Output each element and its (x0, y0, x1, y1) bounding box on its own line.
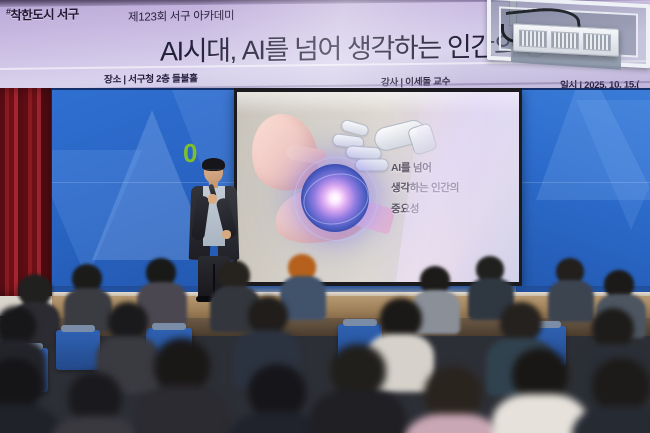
backdrop-seam (516, 182, 650, 183)
person-head (500, 302, 542, 342)
projector-vent-icon (519, 30, 547, 48)
person-head (248, 364, 306, 418)
backdrop-triangle-icon (576, 100, 650, 230)
banner-meta-place: 장소 | 서구청 2층 들불홀 (104, 70, 198, 85)
banner-series-label: 제123회 서구 아카데미 (128, 7, 234, 25)
person-head (108, 302, 148, 340)
audience-area (0, 252, 650, 433)
person-body (310, 390, 406, 433)
person-head (380, 298, 422, 338)
speaker-hand-holding-mic (208, 194, 217, 204)
projector-body (513, 23, 619, 57)
glowing-orb-icon (301, 164, 369, 232)
person-head (592, 358, 650, 412)
person-head (0, 306, 36, 344)
speaker-glasses-icon (205, 169, 222, 174)
lecture-hall-photo: 0 AI를 넘어 생각하는 인간 (0, 0, 650, 433)
ceiling-projector (487, 0, 647, 90)
person-head (330, 344, 386, 396)
person-body (404, 414, 502, 433)
city-logo: #착한도시 서구 (6, 3, 79, 24)
person-body (50, 416, 142, 433)
person-head (68, 372, 122, 422)
projector-vent-icon (583, 33, 611, 51)
projector-vent-icon (551, 31, 579, 49)
person-head (592, 308, 634, 348)
person-head (154, 338, 210, 392)
person-body (0, 404, 60, 433)
speaker-hand (222, 230, 231, 239)
person-body (548, 280, 594, 322)
logo-text: 착한도시 서구 (10, 7, 78, 22)
audience-chair (56, 330, 100, 370)
person-body (134, 386, 230, 433)
person-head (424, 366, 482, 420)
person-head (248, 296, 288, 334)
person-head (512, 348, 568, 400)
